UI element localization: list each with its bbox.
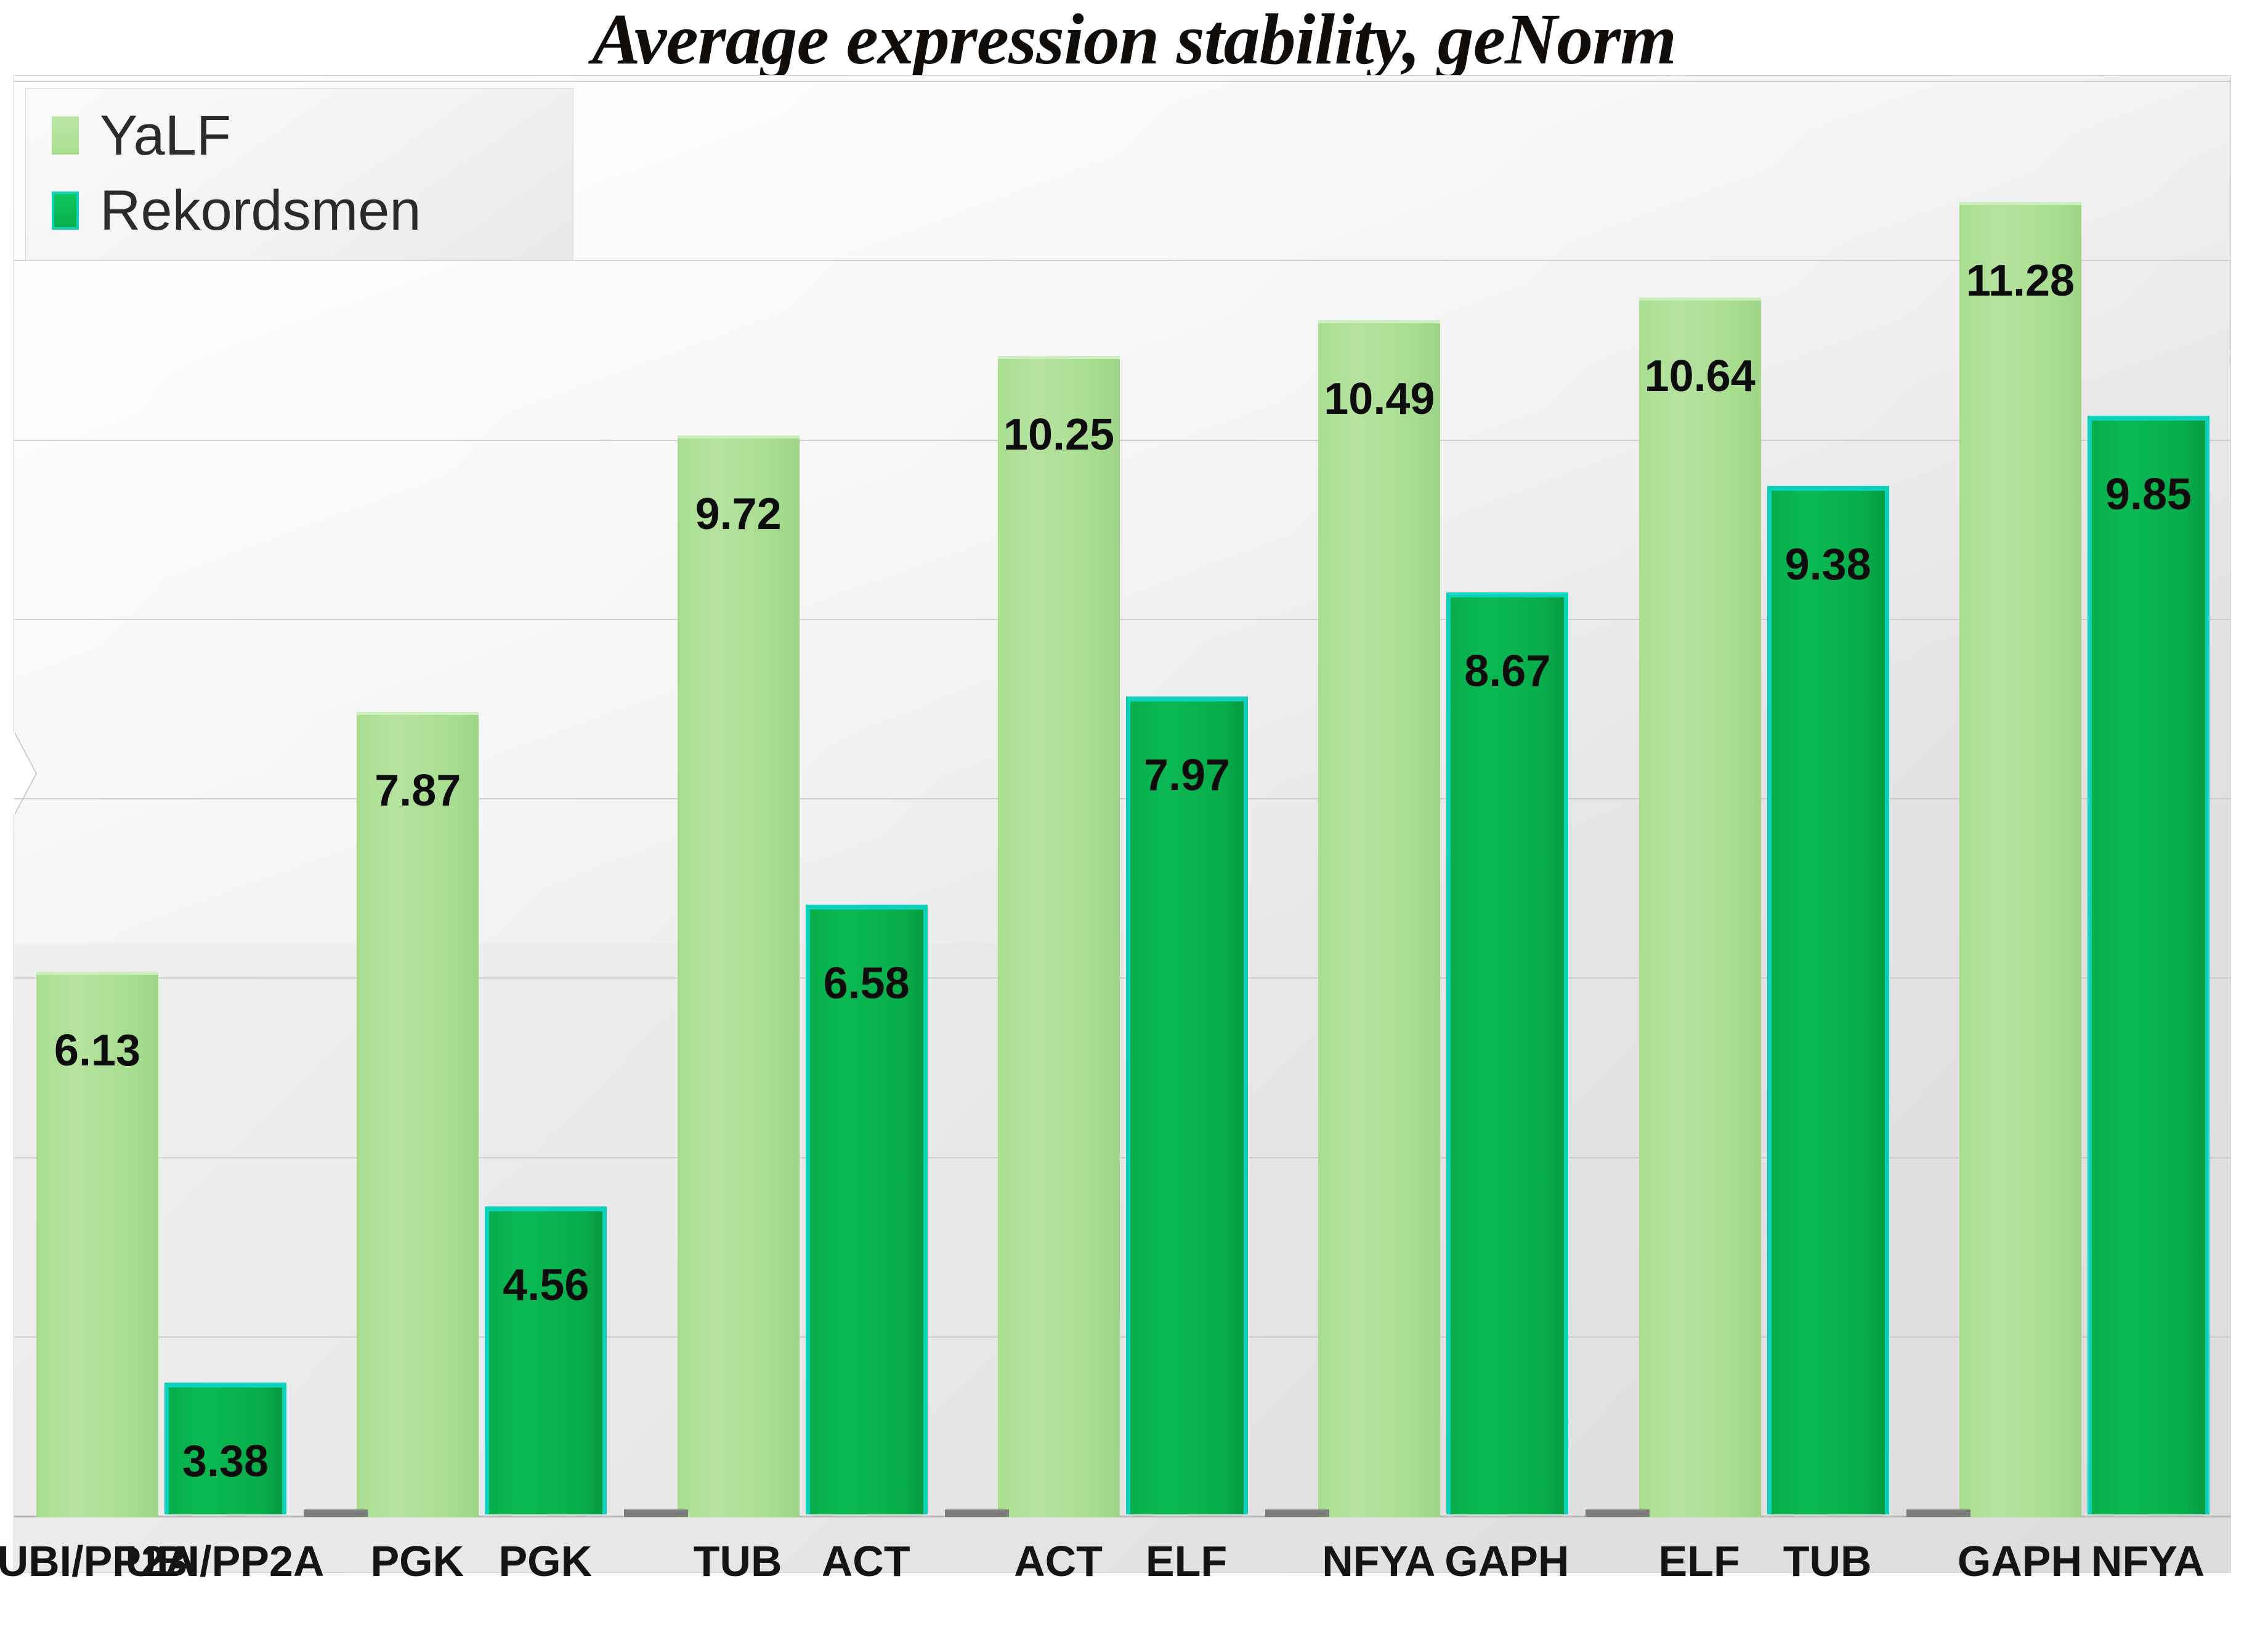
bar-value-label: 10.49	[1324, 377, 1435, 421]
x-axis-label: ELF	[1146, 1540, 1227, 1583]
bar-rekordsmen-gaph[interactable]: 8.67	[1446, 592, 1568, 1515]
bar-yalf-act[interactable]: 10.25	[998, 356, 1120, 1514]
bar-fill	[1318, 320, 1440, 1517]
title-bar: Average expression stability, geNorm	[0, 0, 2268, 73]
bar-value-label: 9.72	[695, 492, 782, 536]
bar-fill	[1767, 486, 1889, 1514]
legend-swatch-rekordsmen	[52, 192, 79, 230]
gridline	[14, 81, 2230, 82]
bar-rekordsmen-nfya[interactable]: 9.85	[2088, 416, 2209, 1514]
bar-rekordsmen-elf[interactable]: 7.97	[1126, 697, 1248, 1514]
gridline	[14, 1336, 2230, 1338]
bar-fill	[678, 435, 800, 1517]
bar-value-label: 9.85	[2105, 472, 2192, 517]
bar-yalf-pgk[interactable]: 7.87	[357, 712, 479, 1514]
bar-value-label: 6.58	[824, 961, 910, 1006]
bar-value-label: 11.28	[1966, 259, 2075, 303]
x-axis-tick	[624, 1509, 688, 1517]
bar-fill	[2088, 416, 2209, 1514]
x-axis-label-row: UBI/PP2AUBI/PP2APGKPGKTUBACTACTELFNFYAGA…	[14, 1540, 2231, 1607]
bar-yalf-gaph[interactable]: 11.28	[1959, 202, 2081, 1514]
gridline	[14, 1157, 2230, 1158]
bar-yalf-tub[interactable]: 9.72	[678, 435, 800, 1514]
legend-label-yalf: YaLF	[100, 107, 231, 164]
bar-fill	[1639, 297, 1761, 1517]
x-axis-label: PGK	[370, 1540, 464, 1583]
x-axis-label: TUB	[694, 1540, 782, 1583]
bar-rekordsmen-pgk[interactable]: 4.56	[485, 1206, 607, 1514]
bar-fill	[485, 1206, 607, 1514]
bar-rekordsmen-ubi-pp2a[interactable]: 3.38	[164, 1383, 286, 1514]
bar-value-label: 10.64	[1645, 354, 1756, 398]
bar-rekordsmen-tub[interactable]: 9.38	[1767, 486, 1889, 1514]
bar-value-label: 3.38	[182, 1439, 269, 1484]
bar-value-label: 6.13	[54, 1028, 140, 1073]
bar-value-label: 7.97	[1144, 753, 1230, 798]
gridline	[14, 440, 2230, 441]
bar-fill	[357, 712, 479, 1517]
x-axis-tick	[1265, 1509, 1329, 1517]
legend-label-rekordsmen: Rekordsmen	[100, 182, 421, 239]
x-axis-label: NFYA	[1322, 1540, 1435, 1583]
bar-fill	[1959, 202, 2081, 1517]
gridline	[14, 619, 2230, 620]
chart-title: Average expression stability, geNorm	[0, 0, 2268, 81]
x-axis-label: TUB	[1783, 1540, 1872, 1583]
gridline	[14, 798, 2230, 799]
bar-value-label: 4.56	[503, 1263, 589, 1307]
legend-swatch-yalf	[52, 116, 79, 155]
x-axis-label: GAPH	[1958, 1540, 2082, 1583]
x-axis-label: ACT	[1014, 1540, 1103, 1583]
chart-frame: 6.133.387.874.569.726.5810.257.9710.498.…	[14, 75, 2231, 1573]
bar-value-label: 7.87	[375, 769, 461, 813]
x-axis-label: ELF	[1659, 1540, 1740, 1583]
x-axis-label: GAPH	[1444, 1540, 1569, 1583]
bar-fill	[1446, 592, 1568, 1515]
x-axis-label: PGK	[498, 1540, 592, 1583]
x-axis-tick	[304, 1509, 368, 1517]
legend-item-yalf[interactable]: YaLF	[52, 107, 231, 164]
x-axis-tick	[1906, 1509, 1970, 1517]
gridline	[14, 977, 2230, 979]
bar-fill	[1126, 697, 1248, 1514]
x-axis-tick	[1586, 1509, 1650, 1517]
bar-value-label: 9.38	[1785, 543, 1871, 587]
plot-area: 6.133.387.874.569.726.5810.257.9710.498.…	[14, 76, 2230, 1572]
bar-value-label: 10.25	[1003, 413, 1114, 457]
chart-legend: YaLF Rekordsmen	[25, 88, 573, 261]
bar-rekordsmen-act[interactable]: 6.58	[806, 905, 928, 1514]
legend-item-rekordsmen[interactable]: Rekordsmen	[52, 182, 421, 239]
x-axis-tick	[945, 1509, 1009, 1517]
bar-yalf-nfya[interactable]: 10.49	[1318, 320, 1440, 1514]
bar-yalf-elf[interactable]: 10.64	[1639, 297, 1761, 1514]
bar-fill	[998, 356, 1120, 1517]
x-axis-label: UBI/PP2A	[126, 1540, 325, 1583]
x-axis-label: ACT	[822, 1540, 910, 1583]
x-axis-label: NFYA	[2091, 1540, 2205, 1583]
bar-value-label: 8.67	[1464, 649, 1550, 693]
bar-yalf-ubi-pp2a[interactable]: 6.13	[36, 972, 158, 1514]
